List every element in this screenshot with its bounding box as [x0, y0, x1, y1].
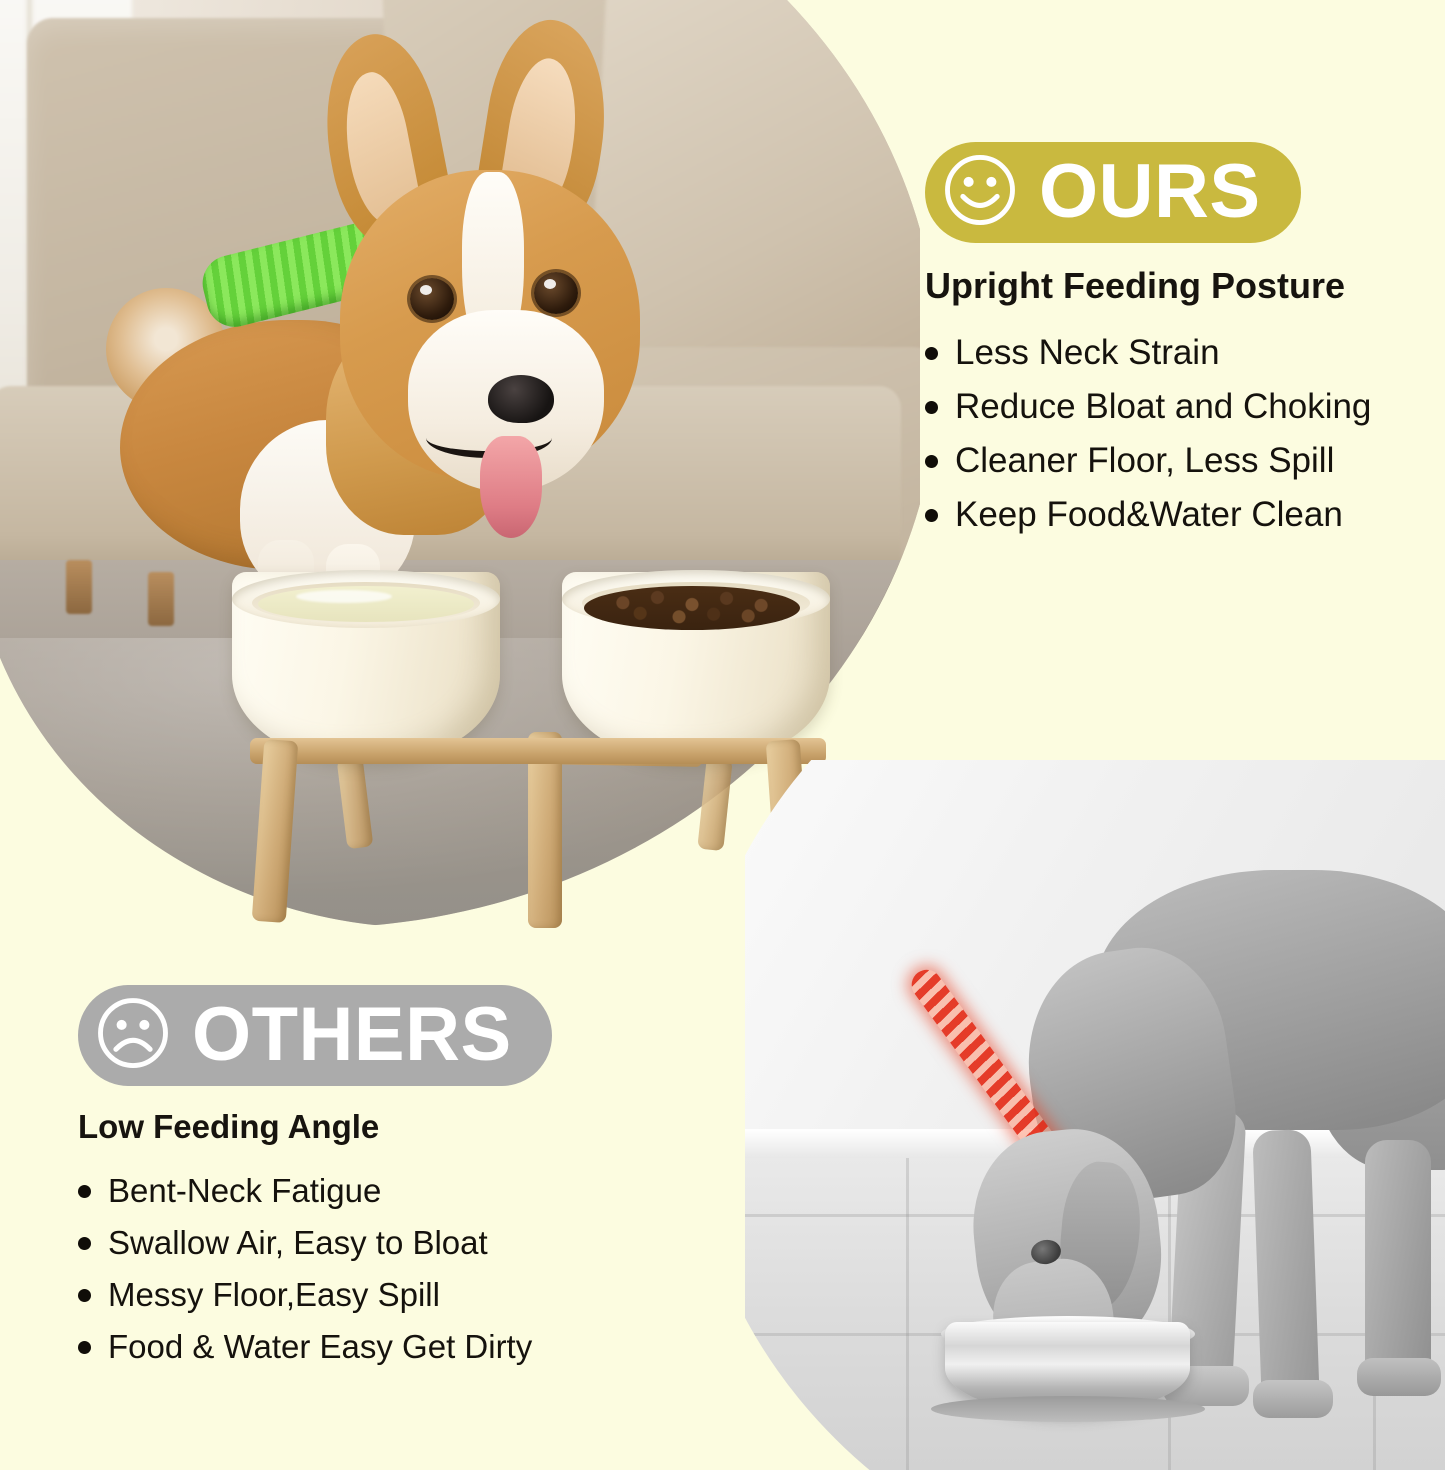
- dog-eye: [410, 278, 454, 320]
- ours-panel: OURS Upright Feeding Posture Less Neck S…: [925, 142, 1425, 549]
- list-item-label: Messy Floor,Easy Spill: [108, 1276, 440, 1314]
- stand-leg: [252, 739, 299, 923]
- list-item: Less Neck Strain: [925, 333, 1425, 373]
- bullet-dot-icon: [78, 1237, 91, 1250]
- dog-nose: [488, 375, 554, 423]
- steel-bowl-base: [931, 1396, 1205, 1422]
- list-item-label: Food & Water Easy Get Dirty: [108, 1328, 532, 1366]
- bullet-dot-icon: [925, 401, 938, 414]
- others-heading: Low Feeding Angle: [78, 1108, 648, 1146]
- list-item: Bent-Neck Fatigue: [78, 1172, 648, 1210]
- kibble-food: [584, 586, 800, 630]
- list-item-label: Keep Food&Water Clean: [955, 495, 1343, 535]
- bullet-dot-icon: [925, 455, 938, 468]
- water-highlight: [296, 590, 392, 603]
- dog-tongue: [480, 436, 542, 538]
- dog-front-leg: [1252, 1129, 1319, 1403]
- list-item: Food & Water Easy Get Dirty: [78, 1328, 648, 1366]
- bullet-dot-icon: [925, 347, 938, 360]
- others-badge: OTHERS: [78, 985, 552, 1086]
- list-item: Swallow Air, Easy to Bloat: [78, 1224, 648, 1262]
- others-panel: OTHERS Low Feeding Angle Bent-Neck Fatig…: [78, 985, 648, 1380]
- bullet-dot-icon: [78, 1289, 91, 1302]
- ours-badge: OURS: [925, 142, 1301, 243]
- infographic-canvas: OURS Upright Feeding Posture Less Neck S…: [0, 0, 1445, 1445]
- list-item: Keep Food&Water Clean: [925, 495, 1425, 535]
- ours-benefit-list: Less Neck Strain Reduce Bloat and Chokin…: [925, 333, 1425, 535]
- others-drawback-list: Bent-Neck Fatigue Swallow Air, Easy to B…: [78, 1172, 648, 1366]
- ours-badge-label: OURS: [1039, 155, 1261, 229]
- dog-hind-leg: [1365, 1140, 1431, 1386]
- sofa-leg: [66, 560, 92, 614]
- list-item-label: Bent-Neck Fatigue: [108, 1172, 381, 1210]
- bullet-dot-icon: [78, 1341, 91, 1354]
- stand-leg: [337, 757, 374, 849]
- stand-leg: [697, 757, 732, 851]
- ours-heading: Upright Feeding Posture: [925, 265, 1425, 307]
- list-item: Reduce Bloat and Choking: [925, 387, 1425, 427]
- list-item: Messy Floor,Easy Spill: [78, 1276, 648, 1314]
- dog-paw: [1357, 1358, 1441, 1396]
- dog-paw: [1253, 1380, 1333, 1418]
- bullet-dot-icon: [78, 1185, 91, 1198]
- dog-eye: [534, 272, 578, 314]
- list-item-label: Cleaner Floor, Less Spill: [955, 441, 1334, 481]
- stand-rail: [250, 738, 826, 764]
- smiley-face-icon: [941, 151, 1019, 234]
- list-item-label: Reduce Bloat and Choking: [955, 387, 1371, 427]
- others-photo: [745, 760, 1445, 1470]
- list-item-label: Less Neck Strain: [955, 333, 1220, 373]
- sad-face-icon: [94, 994, 172, 1077]
- list-item-label: Swallow Air, Easy to Bloat: [108, 1224, 488, 1262]
- list-item: Cleaner Floor, Less Spill: [925, 441, 1425, 481]
- others-badge-label: OTHERS: [192, 998, 512, 1072]
- bullet-dot-icon: [925, 509, 938, 522]
